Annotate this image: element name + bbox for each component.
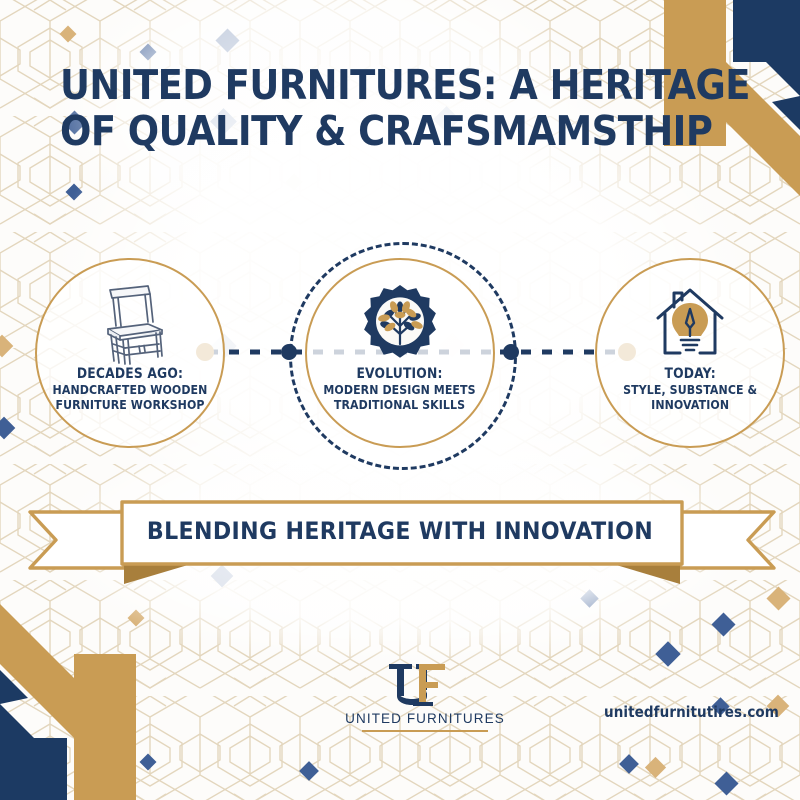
node-sub-line-2: FURNITURE WORKSHOP <box>53 397 208 412</box>
node-label-evolution: EVOLUTION: MODERN DESIGN MEETS TRADITION… <box>324 366 476 412</box>
banner-text: BLENDING HERITAGE WITH INNOVATION <box>144 500 656 562</box>
gear-tree-icon <box>359 284 441 362</box>
timeline-node-evolution[interactable]: EVOLUTION: MODERN DESIGN MEETS TRADITION… <box>305 258 495 448</box>
node-heading: TODAY: <box>623 366 757 382</box>
website-url[interactable]: unitedfurnitutires.com <box>604 703 779 721</box>
node-sub-line-1: HANDCRAFTED WOODEN <box>53 382 208 397</box>
timeline-node-today[interactable]: TODAY: STYLE, SUBSTANCE & INNOVATION <box>595 258 785 448</box>
node-label-decades-ago: DECADES AGO: HANDCRAFTED WOODEN FURNITUR… <box>53 366 208 412</box>
node-heading: DECADES AGO: <box>53 366 208 382</box>
timeline-node-decades-ago[interactable]: DECADES AGO: HANDCRAFTED WOODEN FURNITUR… <box>35 258 225 448</box>
uf-monogram-icon <box>330 662 520 708</box>
bulb <box>672 303 708 350</box>
logo-letter-f <box>419 664 445 706</box>
brand-name: UNITED FURNITURES <box>330 711 520 726</box>
infographic-canvas: UNITED FURNITURES: A HERITAGE OF QUALITY… <box>0 0 800 800</box>
node-sub-line-2: TRADITIONAL SKILLS <box>324 397 476 412</box>
banner-ribbon: BLENDING HERITAGE WITH INNOVATION <box>122 500 678 580</box>
node-label-today: TODAY: STYLE, SUBSTANCE & INNOVATION <box>623 366 757 412</box>
brand-underline <box>362 730 488 732</box>
node-sub-line-2: INNOVATION <box>623 397 757 412</box>
node-sub-line-1: MODERN DESIGN MEETS <box>324 382 476 397</box>
brand-logo[interactable]: UNITED FURNITURES <box>330 662 520 732</box>
node-heading: EVOLUTION: <box>324 366 476 382</box>
node-sub-line-1: STYLE, SUBSTANCE & <box>623 382 757 397</box>
wooden-chair-icon <box>92 284 168 362</box>
house-lightbulb-icon <box>650 284 730 362</box>
